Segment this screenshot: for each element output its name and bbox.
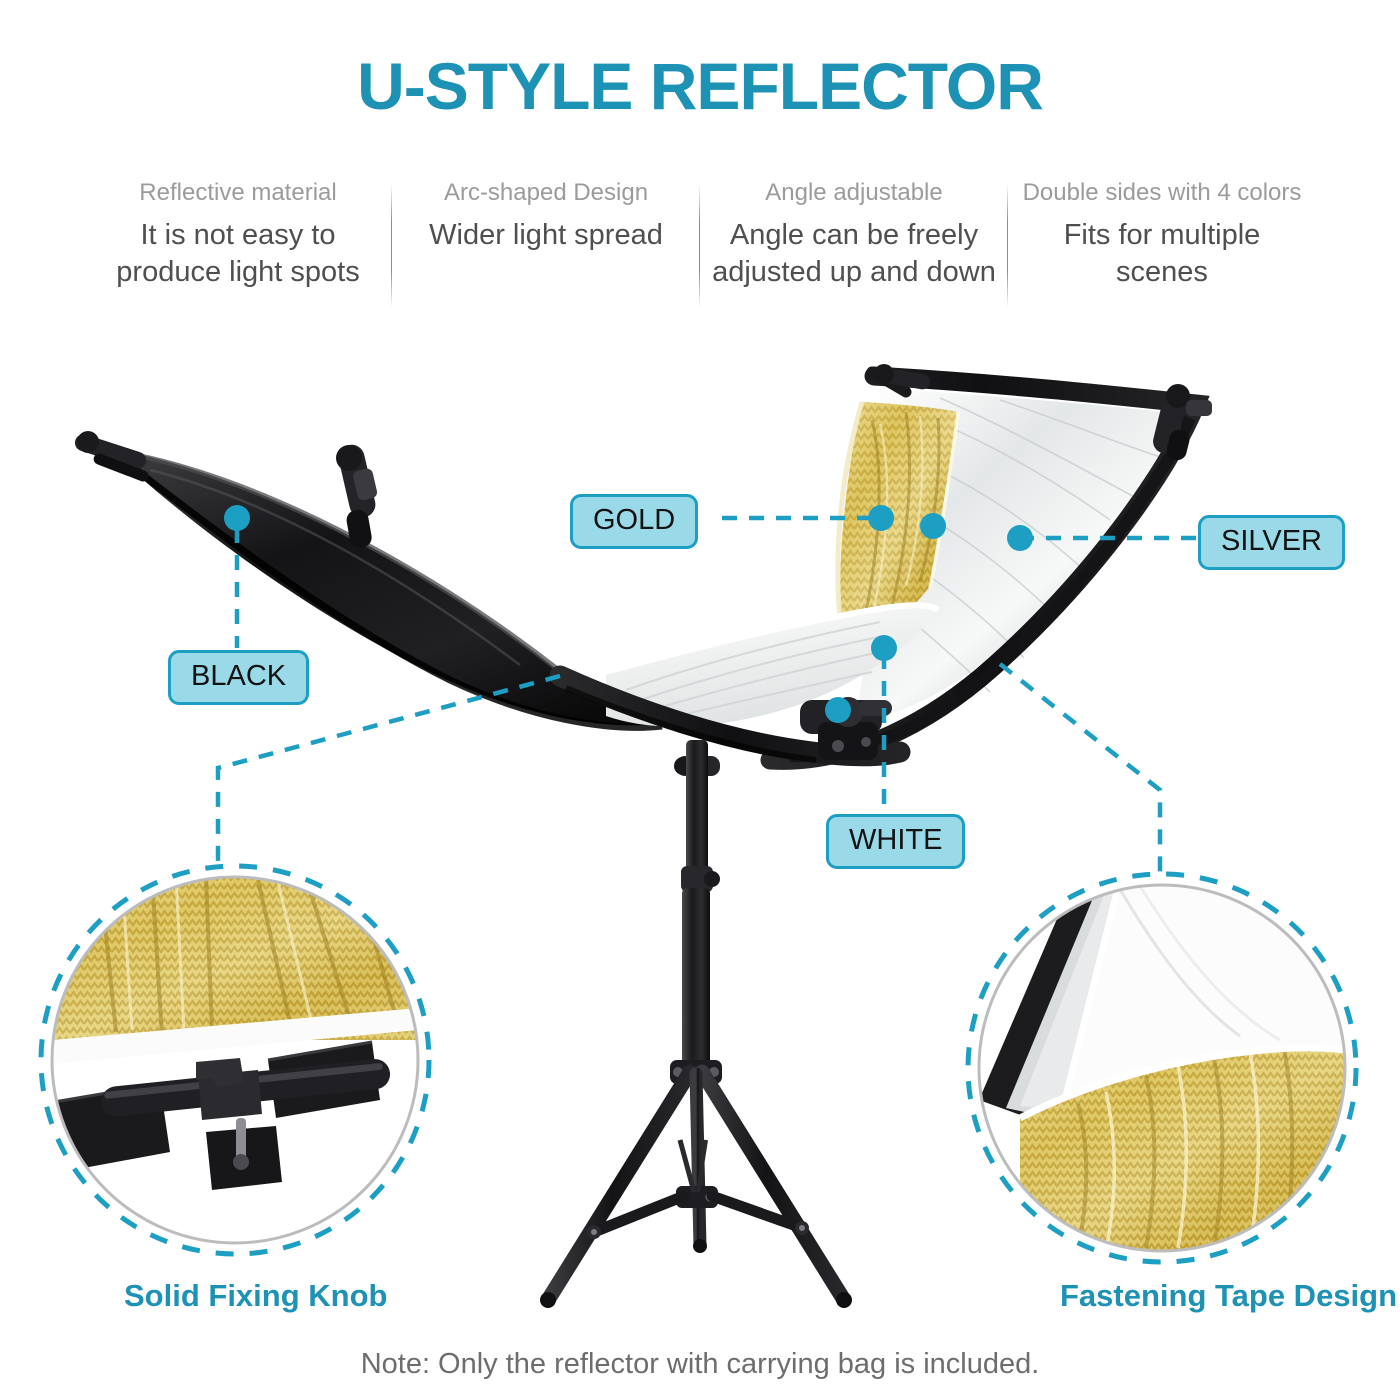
inset-caption-fastening-tape-design: Fastening Tape Design: [1060, 1278, 1397, 1314]
footer-note: Note: Only the reflector with carrying b…: [0, 1348, 1400, 1381]
infographic-page: U-STYLE REFLECTOR Reflective material It…: [0, 0, 1400, 1400]
clamp-handle-left: [73, 431, 150, 483]
dot-white: [871, 635, 897, 661]
inset-solid-fixing-knob: [41, 866, 429, 1254]
tripod-leg-right: [702, 1072, 844, 1300]
dot-gold: [868, 505, 894, 531]
inset-fastening-tape-design: [968, 874, 1356, 1262]
tripod-leg-center: [696, 1074, 700, 1246]
dot-knob: [825, 697, 851, 723]
callout-badge-white[interactable]: WHITE: [826, 814, 965, 869]
callout-badge-silver[interactable]: SILVER: [1198, 515, 1345, 570]
callout-badge-black[interactable]: BLACK: [168, 650, 309, 705]
connector-tape-inset: [1000, 664, 1160, 880]
light-stand: [540, 740, 852, 1308]
tripod-leg-left: [548, 1072, 690, 1300]
dot-silver: [1007, 525, 1033, 551]
dot-gold-secondary: [920, 513, 946, 539]
callout-badge-gold[interactable]: GOLD: [570, 494, 698, 549]
dot-black: [224, 505, 250, 531]
inset-caption-solid-fixing-knob: Solid Fixing Knob: [124, 1278, 387, 1314]
